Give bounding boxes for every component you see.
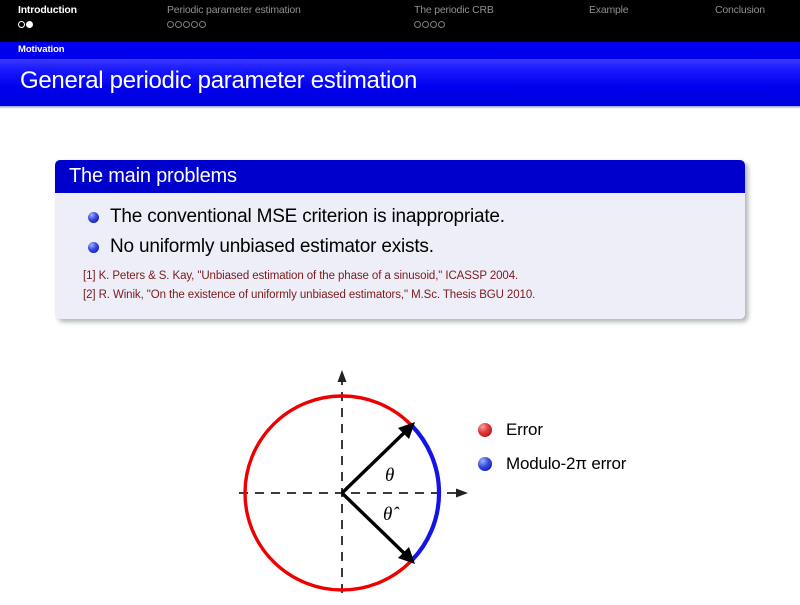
nav-dot[interactable] — [191, 21, 198, 28]
nav-section-periodic-parameter-estimation[interactable]: Periodic parameter estimation — [167, 4, 301, 28]
nav-dot[interactable] — [422, 21, 429, 28]
x-axis-arrowhead-icon — [456, 489, 468, 498]
legend-item-label: Modulo-2π error — [506, 454, 626, 474]
nav-dot[interactable] — [414, 21, 421, 28]
nav-section-dots[interactable] — [414, 20, 494, 28]
subsection-label: Motivation — [18, 44, 65, 55]
reference-citation-1: [1] K. Peters & S. Kay, "Unbiased estima… — [55, 263, 745, 282]
reference-citation-2: [2] R. Winik, "On the existence of unifo… — [55, 282, 745, 301]
nav-section-conclusion[interactable]: Conclusion — [715, 4, 765, 17]
list-item: The conventional MSE criterion is inappr… — [55, 203, 745, 233]
y-axis-arrowhead-icon — [338, 370, 347, 382]
nav-dot[interactable] — [430, 21, 437, 28]
nav-dot[interactable] — [175, 21, 182, 28]
list-item-label: No uniformly unbiased estimator exists. — [110, 235, 434, 259]
nav-section-label: Example — [589, 4, 628, 17]
legend-item-label: Error — [506, 420, 543, 440]
nav-dot[interactable] — [18, 21, 25, 28]
blue-sphere-bullet-icon — [478, 457, 492, 471]
list-item-label: The conventional MSE criterion is inappr… — [110, 205, 505, 229]
subsection-bar: Motivation — [0, 42, 800, 59]
legend-item-modulo-error: Modulo-2π error — [478, 454, 728, 474]
nav-section-label: Introduction — [18, 4, 77, 17]
problems-list: The conventional MSE criterion is inappr… — [55, 203, 745, 263]
legend-item-error: Error — [478, 420, 728, 440]
nav-section-example[interactable]: Example — [589, 4, 628, 17]
nav-section-label: Periodic parameter estimation — [167, 4, 301, 17]
theta-hat-vector-line — [342, 493, 407, 556]
blue-sphere-bullet-icon — [88, 242, 99, 253]
navigation-bar: Introduction Periodic parameter estimati… — [0, 0, 800, 42]
nav-dot[interactable] — [167, 21, 174, 28]
nav-section-the-periodic-crb[interactable]: The periodic CRB — [414, 4, 494, 28]
theta-label: θ — [385, 465, 394, 486]
nav-dot-current[interactable] — [26, 21, 33, 28]
phase-circle-diagram: θ θ̂ — [235, 368, 475, 600]
main-problems-block: The main problems The conventional MSE c… — [55, 160, 745, 319]
nav-section-label: Conclusion — [715, 4, 765, 17]
nav-dot[interactable] — [199, 21, 206, 28]
block-title: The main problems — [55, 160, 745, 193]
red-sphere-bullet-icon — [478, 423, 492, 437]
block-body: The conventional MSE criterion is inappr… — [55, 193, 745, 319]
page-title: General periodic parameter estimation — [20, 67, 417, 95]
phase-circle-svg: θ θ̂ — [235, 368, 475, 600]
theta-hat-label: θ̂ — [383, 504, 400, 525]
blue-sphere-bullet-icon — [88, 212, 99, 223]
nav-dot[interactable] — [438, 21, 445, 28]
diagram-legend: Error Modulo-2π error — [478, 420, 728, 488]
nav-section-label: The periodic CRB — [414, 4, 494, 17]
nav-section-dots[interactable] — [167, 20, 301, 28]
nav-dot[interactable] — [183, 21, 190, 28]
theta-vector-line — [342, 430, 407, 493]
slide-title-bar: General periodic parameter estimation — [0, 59, 800, 106]
nav-section-dots[interactable] — [18, 20, 77, 28]
nav-section-introduction[interactable]: Introduction — [18, 4, 77, 28]
list-item: No uniformly unbiased estimator exists. — [55, 233, 745, 263]
title-underline-divider — [0, 106, 800, 109]
